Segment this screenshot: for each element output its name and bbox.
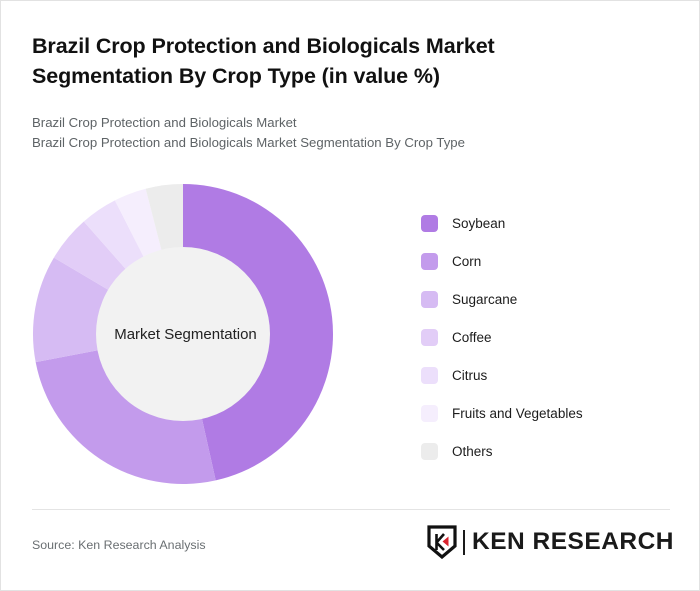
legend-item-label: Fruits and Vegetables (452, 406, 583, 421)
donut-center-circle (96, 247, 270, 421)
legend-item-label: Soybean (452, 216, 505, 231)
legend-item-label: Sugarcane (452, 292, 517, 307)
page-title: Brazil Crop Protection and Biologicals M… (32, 31, 632, 91)
source-note: Source: Ken Research Analysis (32, 538, 206, 552)
legend-swatch-icon (421, 253, 438, 270)
subtitle-line-2: Brazil Crop Protection and Biologicals M… (32, 133, 632, 153)
chart-legend: SoybeanCornSugarcaneCoffeeCitrusFruits a… (421, 204, 671, 470)
legend-item-label: Others (452, 444, 493, 459)
legend-item-label: Coffee (452, 330, 492, 345)
ken-research-logo: KEN RESEARCH (427, 525, 670, 559)
donut-chart: Market Segmentation (25, 173, 345, 495)
legend-swatch-icon (421, 443, 438, 460)
subtitle-block: Brazil Crop Protection and Biologicals M… (32, 113, 632, 153)
legend-item[interactable]: Soybean (421, 204, 671, 242)
legend-item-label: Citrus (452, 368, 487, 383)
ken-research-shield-icon (427, 525, 457, 559)
donut-chart-svg (25, 173, 345, 495)
legend-item[interactable]: Others (421, 432, 671, 470)
footer-divider (32, 509, 670, 510)
legend-swatch-icon (421, 405, 438, 422)
legend-item[interactable]: Coffee (421, 318, 671, 356)
subtitle-line-1: Brazil Crop Protection and Biologicals M… (32, 113, 632, 133)
logo-divider (463, 530, 465, 555)
legend-item-label: Corn (452, 254, 481, 269)
legend-item[interactable]: Fruits and Vegetables (421, 394, 671, 432)
legend-item[interactable]: Citrus (421, 356, 671, 394)
brand-wordmark: KEN RESEARCH (472, 530, 674, 554)
legend-swatch-icon (421, 367, 438, 384)
legend-swatch-icon (421, 329, 438, 346)
legend-swatch-icon (421, 215, 438, 232)
chart-card: Brazil Crop Protection and Biologicals M… (0, 0, 700, 591)
legend-item[interactable]: Sugarcane (421, 280, 671, 318)
legend-swatch-icon (421, 291, 438, 308)
legend-item[interactable]: Corn (421, 242, 671, 280)
